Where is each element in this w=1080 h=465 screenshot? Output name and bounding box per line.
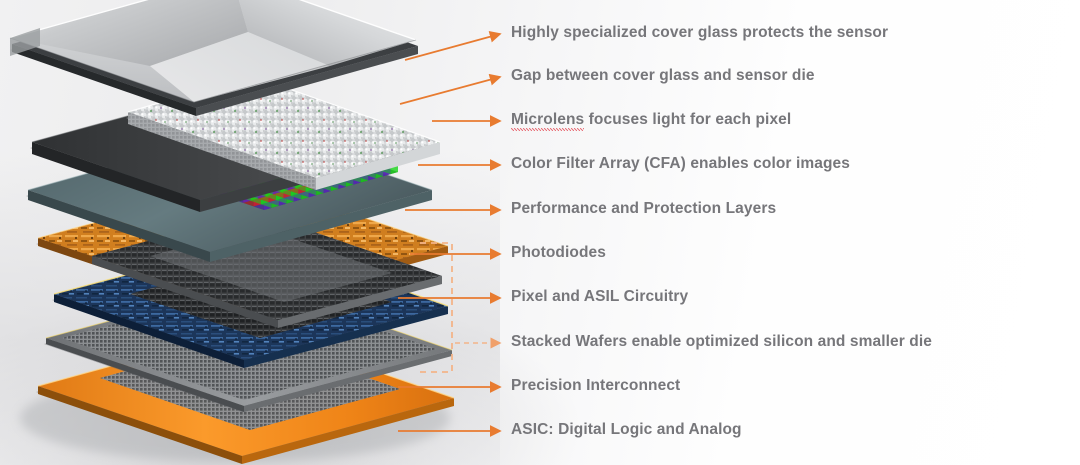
- callout-label-performance-layers: Performance and Protection Layers: [511, 201, 776, 217]
- callout-label-stacked-wafers: Stacked Wafers enable optimized silicon …: [511, 334, 932, 350]
- callout-label-precision-interconnect: Precision Interconnect: [511, 378, 680, 394]
- callout-label-asic: ASIC: Digital Logic and Analog: [511, 422, 742, 438]
- callout-label-photodiodes: Photodiodes: [511, 245, 606, 261]
- callout-label-cover-glass: Highly specialized cover glass protects …: [511, 25, 888, 41]
- callout-label-column: Highly specialized cover glass protects …: [0, 0, 1080, 465]
- figure-canvas: Highly specialized cover glass protects …: [0, 0, 1080, 465]
- callout-label-pixel-asil: Pixel and ASIL Circuitry: [511, 289, 688, 305]
- callout-label-gap: Gap between cover glass and sensor die: [511, 68, 815, 84]
- misspelled-word: Microlens: [511, 111, 584, 131]
- callout-label-microlens: Microlens focuses light for each pixel: [511, 112, 791, 128]
- callout-label-color-filter-array: Color Filter Array (CFA) enables color i…: [511, 156, 850, 172]
- callout-label-rest: focuses light for each pixel: [584, 111, 791, 128]
